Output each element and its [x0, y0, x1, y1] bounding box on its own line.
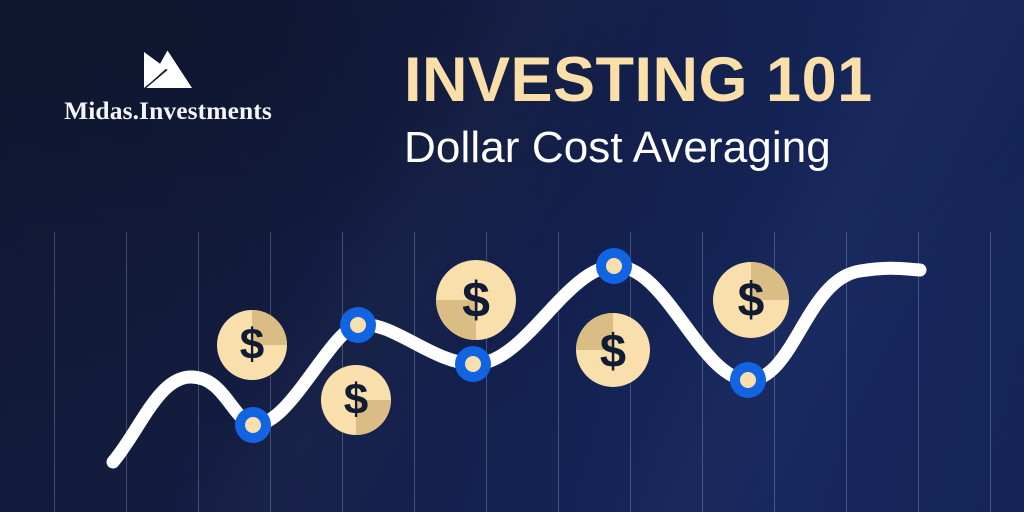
dollar-sign-icon: $ [576, 313, 650, 387]
data-point-marker[interactable] [455, 346, 491, 382]
data-point-marker[interactable] [596, 248, 632, 284]
dollar-coin-icon: $ [217, 310, 287, 380]
data-point-marker-core [465, 356, 481, 372]
data-point-marker-core [606, 258, 622, 274]
dollar-coin-icon: $ [436, 260, 516, 340]
dollar-sign-icon: $ [713, 262, 789, 338]
data-point-marker-core [740, 372, 756, 388]
dollar-sign-icon: $ [436, 260, 516, 340]
infographic-canvas: Midas.Investments INVESTING 101 Dollar C… [0, 0, 1024, 512]
dollar-coin-icon: $ [321, 365, 391, 435]
dollar-sign-icon: $ [217, 310, 287, 380]
data-point-marker-core [245, 417, 261, 433]
price-line-chart-svg [0, 0, 1024, 512]
dollar-coin-icon: $ [713, 262, 789, 338]
data-point-marker[interactable] [340, 307, 376, 343]
data-point-marker[interactable] [235, 407, 271, 443]
data-point-marker[interactable] [730, 362, 766, 398]
data-point-marker-core [350, 317, 366, 333]
chart: $$$$$ [0, 0, 1024, 512]
dollar-sign-icon: $ [321, 365, 391, 435]
dollar-coin-icon: $ [576, 313, 650, 387]
